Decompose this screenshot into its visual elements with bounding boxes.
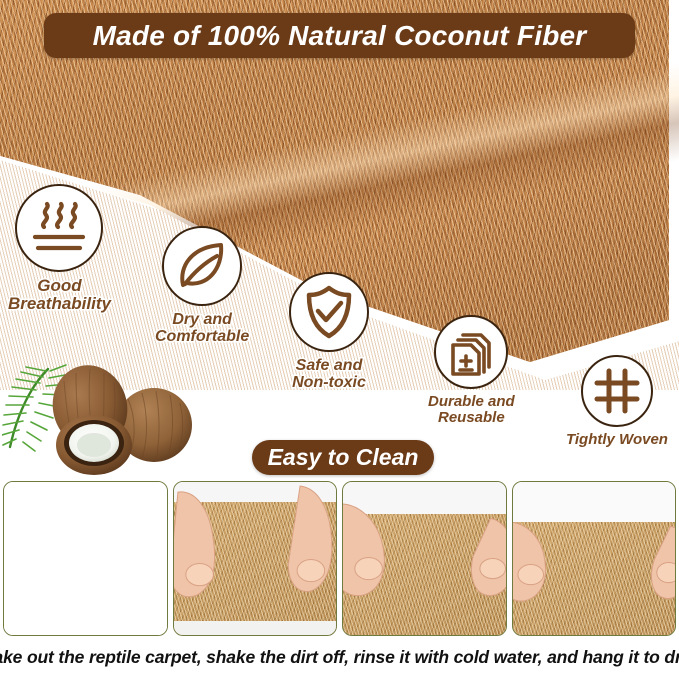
leaf-icon — [162, 226, 242, 306]
photo-strip — [3, 481, 676, 636]
feature-durable-and-reusable: Durable and Reusable — [428, 315, 515, 426]
finger — [343, 504, 384, 596]
woven-grid-icon — [581, 355, 653, 427]
hands-holding-mat-photo — [512, 481, 677, 636]
finger — [174, 492, 215, 597]
rolled-mat-photo — [3, 481, 168, 636]
finger — [288, 486, 332, 591]
header-banner: Made of 100% Natural Coconut Fiber — [44, 13, 635, 58]
caption-text: take out the reptile carpet, shake the d… — [0, 647, 679, 668]
hand-lifting-mat-photo — [342, 481, 507, 636]
feature-good-breathability: Good Breathability — [8, 184, 111, 314]
product-infographic: Made of 100% Natural Coconut Fiber Good … — [0, 0, 679, 678]
instruction-caption: take out the reptile carpet, shake the d… — [0, 640, 679, 674]
feature-label: Durable and Reusable — [428, 394, 515, 426]
coconut-half — [56, 415, 132, 475]
feature-label: Good Breathability — [8, 277, 111, 314]
coconuts-illustration — [2, 355, 212, 475]
page-title: Made of 100% Natural Coconut Fiber — [93, 22, 587, 50]
finger — [513, 522, 546, 601]
feature-dry-and-comfortable: Dry and Comfortable — [155, 226, 249, 346]
easy-to-clean-label: Easy to Clean — [268, 446, 419, 469]
steam-lines-icon — [15, 184, 103, 272]
feature-label: Safe and Non-toxic — [292, 357, 366, 392]
feature-safe-and-non-toxic: Safe and Non-toxic — [289, 272, 369, 392]
feature-tightly-woven: Tightly Woven — [566, 355, 668, 448]
finger — [651, 526, 675, 598]
feature-label: Dry and Comfortable — [155, 311, 249, 346]
easy-to-clean-badge: Easy to Clean — [252, 440, 434, 475]
shield-check-icon — [289, 272, 369, 352]
feature-label: Tightly Woven — [566, 432, 668, 448]
finger — [472, 518, 506, 595]
documents-plus-icon — [434, 315, 508, 389]
hands-pressing-mat-photo — [173, 481, 338, 636]
